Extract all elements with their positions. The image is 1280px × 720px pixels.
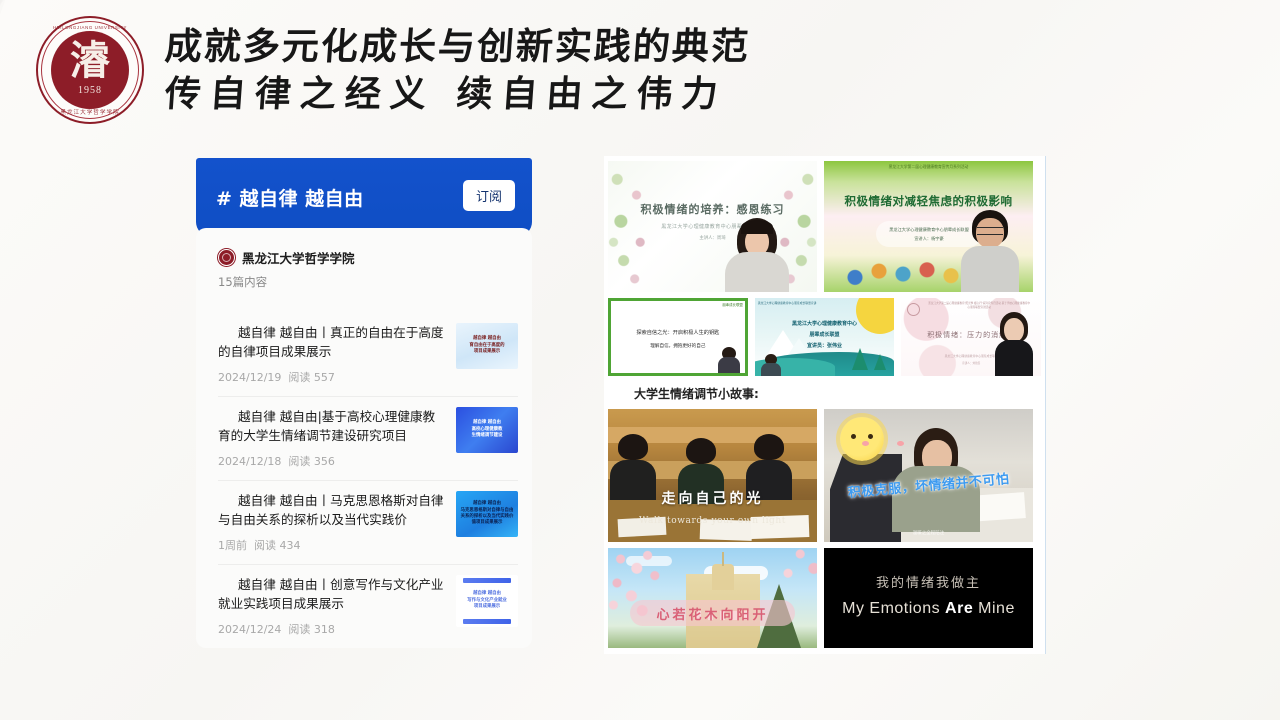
section-label: 大学生情绪调节小故事: bbox=[604, 376, 1045, 409]
thumb-line: 值项目成果展示 bbox=[472, 520, 503, 526]
tile-line-1: 探索自信之光：开启积极人生的钥匙 bbox=[611, 329, 745, 336]
tree-icon bbox=[874, 354, 886, 370]
article-meta: 2024/12/24 阅读 318 bbox=[218, 621, 446, 637]
tile-title: 积极情绪对减轻焦虑的积极影响 bbox=[824, 193, 1033, 209]
tile-line-1: 黑龙江大学心理健康教育中心 bbox=[755, 320, 895, 327]
tile-caption-cn: 走向自己的光 bbox=[608, 488, 817, 508]
article-text: 越自律 越自由|基于高校心理健康教育的大学生情绪调节建设研究项目 2024/12… bbox=[218, 407, 446, 469]
article-title: 越自律 越自由丨马克思恩格斯对自律与自由关系的探析以及当代实践价 bbox=[218, 491, 446, 529]
seal-year: 1958 bbox=[78, 85, 102, 96]
thumb-line: 项目成果展示 bbox=[474, 349, 500, 355]
figure-body bbox=[995, 340, 1033, 376]
smiling-sun-sticker-icon bbox=[840, 417, 884, 461]
tile-banner: 黑龙江大学第二届心理健康教育"阳光季 暖心行"系列宣传月活动 基于学校心理健康教… bbox=[927, 302, 1031, 310]
article-title: 越自律 越自由丨创意写作与文化产业就业实践项目成果展示 bbox=[218, 575, 446, 613]
tile-caption: 心若花木向阳开 bbox=[608, 604, 817, 623]
cherry-blossom-branch-icon bbox=[747, 548, 817, 602]
article-title: 越自律 越自由丨真正的自由在于高度的自律项目成果展示 bbox=[218, 323, 446, 361]
account-row[interactable]: 黑龙江大学哲学学院 bbox=[196, 240, 532, 267]
media-row-3: 走向自己的光 Walk towards your own light 积极克服，… bbox=[604, 409, 1045, 542]
figure-body bbox=[718, 357, 740, 373]
cherry-blossom-branch-icon bbox=[608, 548, 698, 640]
media-tile-overcome[interactable]: 积极克服，坏情绪并不可怕 温暖之全程陪注 bbox=[824, 409, 1033, 542]
media-tile-stress[interactable]: 黑龙江大学第二届心理健康教育"阳光季 暖心行"系列宣传月活动 基于学校心理健康教… bbox=[901, 298, 1041, 376]
presenter-figure bbox=[725, 218, 789, 292]
figure-fringe bbox=[741, 220, 773, 234]
tile-caption-cn: 我的情绪我做主 bbox=[824, 572, 1033, 591]
topic-hashtag: # 越自律 越自由 bbox=[216, 184, 364, 211]
figure-head bbox=[686, 438, 716, 464]
topic-header-banner: # 越自律 越自由 订阅 bbox=[196, 158, 532, 236]
sun-blush bbox=[864, 437, 902, 445]
presenter-figure bbox=[961, 210, 1019, 292]
media-tile-mountain[interactable]: 黑龙江大学心理健康教育中心朋辈成长联盟宣讲 黑龙江大学心理健康教育中心 朋辈成长… bbox=[755, 298, 895, 376]
tile-speaker: 宣讲人：杨宇豪 bbox=[914, 236, 943, 242]
tile-title: 积极情绪的培养：感恩练习 bbox=[608, 201, 817, 217]
figure-head bbox=[618, 434, 648, 460]
page-title: 成就多元化成长与创新实践的典范 传自律之经义 续自由之伟力 bbox=[165, 22, 750, 118]
article-list: 越自律 越自由丨真正的自由在于高度的自律项目成果展示 2024/12/19 阅读… bbox=[196, 312, 532, 648]
article-date: 2024/12/19 bbox=[218, 371, 281, 384]
tile-banner: 黑龙江大学心理健康教育中心朋辈成长联盟宣讲 bbox=[758, 301, 817, 305]
media-row-4: 心若花木向阳开 我的情绪我做主 My Emotions Are Mine bbox=[604, 542, 1045, 648]
article-meta: 2024/12/18 阅读 356 bbox=[218, 453, 446, 469]
media-tile-walk-towards-light[interactable]: 走向自己的光 Walk towards your own light bbox=[608, 409, 817, 542]
sun-shape-icon bbox=[856, 298, 894, 334]
list-item[interactable]: 越自律 越自由|基于高校心理健康教育的大学生情绪调节建设研究项目 2024/12… bbox=[196, 396, 532, 480]
article-title: 越自律 越自由|基于高校心理健康教育的大学生情绪调节建设研究项目 bbox=[218, 407, 446, 445]
article-text: 越自律 越自由丨马克思恩格斯对自律与自由关系的探析以及当代实践价 1周前 阅读 … bbox=[218, 491, 446, 553]
tile-line-3: 宣讲员：张伟业 bbox=[755, 342, 895, 349]
figure-body bbox=[725, 252, 789, 292]
figure-head bbox=[754, 434, 784, 460]
list-item[interactable]: 越自律 越自由丨真正的自由在于高度的自律项目成果展示 2024/12/19 阅读… bbox=[196, 312, 532, 396]
seal-character: 濬 bbox=[70, 41, 110, 81]
article-meta: 1周前 阅读 434 bbox=[218, 537, 446, 553]
presenter-figure bbox=[718, 347, 740, 373]
avatar bbox=[218, 249, 235, 266]
article-meta: 2024/12/19 阅读 557 bbox=[218, 369, 446, 385]
media-row-2: 朋辈成长联盟 探索自信之光：开启积极人生的钥匙 理解自信，拥抱更好的自己 黑龙江… bbox=[604, 292, 1045, 376]
thumb-line: 生情绪调节建设 bbox=[472, 433, 503, 439]
thumb-bar-bottom bbox=[463, 619, 511, 624]
tile-corner-label: 朋辈成长联盟 bbox=[722, 302, 742, 307]
article-thumbnail: 越自律 越自由 马克思恩格斯对自律与自由 关系的探析以及当代实践价 值项目成果展… bbox=[456, 491, 518, 537]
en-part-a: My Emotions bbox=[842, 600, 945, 617]
account-name: 黑龙江大学哲学学院 bbox=[242, 248, 355, 267]
article-text: 越自律 越自由丨真正的自由在于高度的自律项目成果展示 2024/12/19 阅读… bbox=[218, 323, 446, 385]
tile-banner: 黑龙江大学第二届心理健康教育宣传月系列活动 bbox=[824, 165, 1033, 170]
list-item[interactable]: 越自律 越自由丨马克思恩格斯对自律与自由关系的探析以及当代实践价 1周前 阅读 … bbox=[196, 480, 532, 564]
content-count: 15篇内容 bbox=[196, 267, 532, 290]
media-board: 积极情绪的培养：感恩练习 黑龙江大学心理健康教育中心朋辈成长联盟 主讲人：周琦 … bbox=[604, 156, 1046, 654]
article-date: 2024/12/18 bbox=[218, 455, 281, 468]
en-part-b: Are bbox=[945, 600, 978, 617]
tile-caption-en: Walk towards your own light bbox=[608, 516, 817, 526]
tile-org: 黑龙江大学心理健康教育中心朋辈成长联盟 bbox=[889, 227, 969, 233]
media-tile-anxiety[interactable]: 黑龙江大学第二届心理健康教育宣传月系列活动 积极情绪对减轻焦虑的积极影响 黑龙江… bbox=[824, 161, 1033, 292]
article-thumbnail: 越自律 越自由 高校心理健康教 生情绪调节建设 bbox=[456, 407, 518, 453]
building-spire bbox=[722, 552, 724, 566]
presenter-figure bbox=[993, 312, 1035, 376]
topic-body: 黑龙江大学哲学学院 15篇内容 越自律 越自由丨真正的自由在于高度的自律项目成果… bbox=[196, 228, 532, 648]
university-seal-logo: HEILONGJIANG UNIVERSITY 黑龙江大学哲学学院 濬 1958 bbox=[36, 16, 144, 124]
thumb-text: 越自律 越自由 写作与文化产业就业 项目成果展示 bbox=[467, 583, 507, 619]
page-header: HEILONGJIANG UNIVERSITY 黑龙江大学哲学学院 濬 1958… bbox=[0, 0, 1280, 140]
seal-arc-bottom-text: 黑龙江大学哲学学院 bbox=[38, 108, 142, 116]
article-thumbnail: 越自律 越自由 育自由在于高度的 项目成果展示 bbox=[456, 323, 518, 369]
seal-arc-top-text: HEILONGJIANG UNIVERSITY bbox=[38, 25, 142, 30]
figure-body bbox=[961, 246, 1019, 292]
tile-watermark: 温暖之全程陪注 bbox=[824, 530, 1033, 536]
tile-caption-en: My Emotions Are Mine bbox=[824, 600, 1033, 618]
media-tile-confidence[interactable]: 朋辈成长联盟 探索自信之光：开启积极人生的钥匙 理解自信，拥抱更好的自己 bbox=[608, 298, 748, 376]
figure-body bbox=[761, 363, 781, 376]
wechat-topic-panel: # 越自律 越自由 订阅 黑龙江大学哲学学院 15篇内容 越自律 越自由丨真正的… bbox=[196, 158, 532, 658]
media-row-1: 积极情绪的培养：感恩练习 黑龙江大学心理健康教育中心朋辈成长联盟 主讲人：周琦 … bbox=[604, 156, 1045, 292]
article-reads: 阅读 356 bbox=[288, 455, 335, 468]
thumb-line: 项目成果展示 bbox=[474, 604, 500, 610]
article-thumbnail: 越自律 越自由 写作与文化产业就业 项目成果展示 bbox=[456, 575, 518, 627]
article-text: 越自律 越自由丨创意写作与文化产业就业实践项目成果展示 2024/12/24 阅… bbox=[218, 575, 446, 637]
subscribe-button[interactable]: 订阅 bbox=[463, 180, 515, 211]
title-line-2: 传自律之经义 续自由之伟力 bbox=[163, 70, 751, 118]
media-tile-bloom[interactable]: 心若花木向阳开 bbox=[608, 548, 817, 648]
article-date: 2024/12/24 bbox=[218, 623, 281, 636]
tile-line-2: 朋辈成长联盟 bbox=[755, 331, 895, 338]
seal-icon bbox=[907, 303, 920, 316]
article-date: 1周前 bbox=[218, 539, 247, 552]
figure-face bbox=[1004, 318, 1024, 342]
tree-icon bbox=[852, 348, 868, 370]
list-item[interactable]: 越自律 越自由丨创意写作与文化产业就业实践项目成果展示 2024/12/24 阅… bbox=[196, 564, 532, 648]
figure-glasses-icon bbox=[977, 227, 1003, 235]
article-reads: 阅读 557 bbox=[288, 371, 335, 384]
media-tile-my-emotions[interactable]: 我的情绪我做主 My Emotions Are Mine bbox=[824, 548, 1033, 648]
article-reads: 阅读 318 bbox=[288, 623, 335, 636]
media-tile-gratitude[interactable]: 积极情绪的培养：感恩练习 黑龙江大学心理健康教育中心朋辈成长联盟 主讲人：周琦 bbox=[608, 161, 817, 292]
article-reads: 阅读 434 bbox=[254, 539, 301, 552]
seal-inner-disc: 濬 1958 bbox=[51, 31, 129, 109]
title-line-1: 成就多元化成长与创新实践的典范 bbox=[163, 22, 751, 70]
building-tower bbox=[712, 564, 734, 590]
en-part-c: Mine bbox=[978, 600, 1015, 617]
presenter-figure bbox=[761, 354, 781, 376]
